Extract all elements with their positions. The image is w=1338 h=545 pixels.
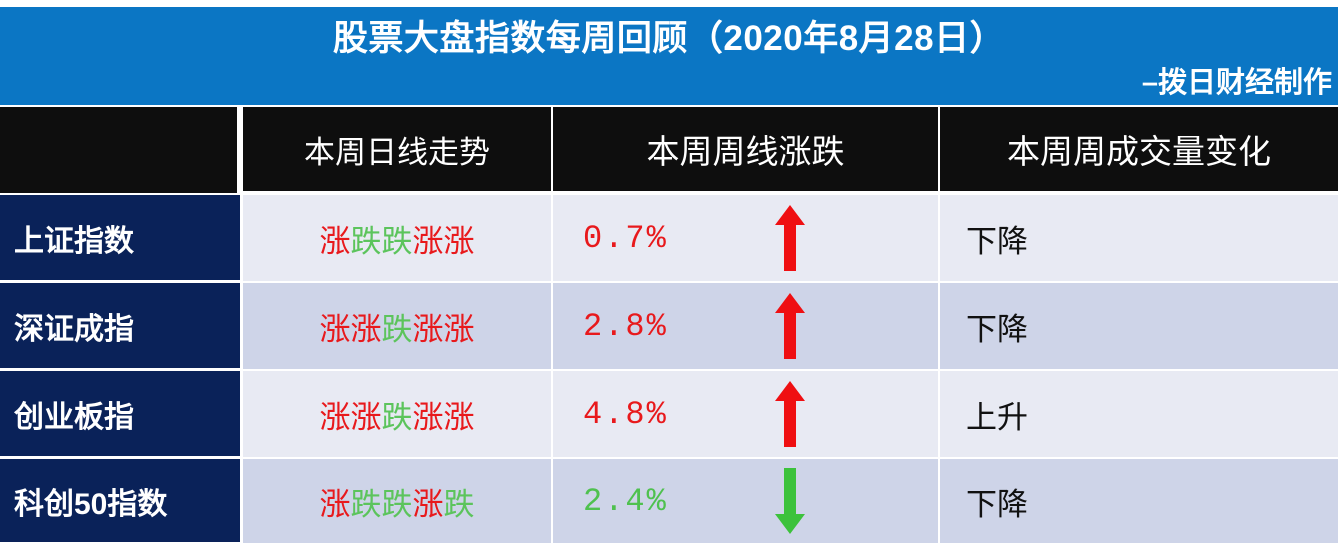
trend-tick: 涨 xyxy=(320,479,351,524)
header-cell-weekly-change: 本周周线涨跌 xyxy=(553,107,940,193)
trend-tick: 涨 xyxy=(351,392,382,437)
trend-tick: 跌 xyxy=(382,304,413,349)
weekly-change-cell: 2.8% xyxy=(553,283,940,371)
daily-trend-cell: 涨涨跌涨涨 xyxy=(243,283,553,371)
weekly-change-cell: 2.4% xyxy=(553,459,940,545)
indices-table: 本周日线走势 本周周线涨跌 本周周成交量变化 上证指数 涨跌跌涨涨 0.7% 下… xyxy=(0,107,1338,545)
header-cell-index xyxy=(0,107,240,193)
trend-tick: 跌 xyxy=(382,479,413,524)
trend-tick: 涨 xyxy=(444,216,475,261)
trend-tick: 涨 xyxy=(413,479,444,524)
table-row: 上证指数 涨跌跌涨涨 0.7% 下降 xyxy=(0,195,1338,283)
weekly-change-value: 4.8% xyxy=(553,396,753,433)
credit-line: –拨日财经制作 xyxy=(1142,65,1332,101)
trend-tick: 涨 xyxy=(351,304,382,349)
trend-tick: 涨 xyxy=(413,216,444,261)
volume-change-value: 上升 xyxy=(940,371,1338,459)
weekly-change-value: 2.8% xyxy=(553,308,753,345)
index-name: 科创50指数 xyxy=(0,459,240,545)
table-row: 深证成指 涨涨跌涨涨 2.8% 下降 xyxy=(0,283,1338,371)
weekly-change-value: 0.7% xyxy=(553,220,753,257)
table-row: 创业板指 涨涨跌涨涨 4.8% 上升 xyxy=(0,371,1338,459)
trend-tick: 跌 xyxy=(351,479,382,524)
daily-trend-cell: 涨涨跌涨涨 xyxy=(243,371,553,459)
table-row: 科创50指数 涨跌跌涨跌 2.4% 下降 xyxy=(0,459,1338,545)
arrow-up-icon xyxy=(753,283,873,369)
trend-tick: 涨 xyxy=(413,304,444,349)
trend-tick: 跌 xyxy=(382,216,413,261)
arrow-up-icon xyxy=(753,371,873,457)
trend-tick: 跌 xyxy=(444,479,475,524)
trend-tick: 涨 xyxy=(444,304,475,349)
top-margin xyxy=(0,0,1338,7)
trend-tick: 涨 xyxy=(413,392,444,437)
weekly-change-cell: 0.7% xyxy=(553,195,940,283)
page-title: 股票大盘指数每周回顾（2020年8月28日） xyxy=(0,17,1338,61)
trend-tick: 跌 xyxy=(351,216,382,261)
arrow-down-icon xyxy=(753,459,873,543)
header-cell-volume-change: 本周周成交量变化 xyxy=(940,107,1338,193)
trend-tick: 涨 xyxy=(444,392,475,437)
header-banner: 股票大盘指数每周回顾（2020年8月28日） –拨日财经制作 xyxy=(0,7,1338,105)
index-name: 上证指数 xyxy=(0,195,240,283)
daily-trend-cell: 涨跌跌涨跌 xyxy=(243,459,553,545)
header-cell-daily-trend: 本周日线走势 xyxy=(243,107,553,193)
trend-tick: 涨 xyxy=(320,392,351,437)
trend-tick: 涨 xyxy=(320,304,351,349)
volume-change-value: 下降 xyxy=(940,459,1338,545)
arrow-up-icon xyxy=(753,195,873,281)
volume-change-value: 下降 xyxy=(940,195,1338,283)
volume-change-value: 下降 xyxy=(940,283,1338,371)
index-name: 深证成指 xyxy=(0,283,240,371)
weekly-change-value: 2.4% xyxy=(553,483,753,520)
table-header-row: 本周日线走势 本周周线涨跌 本周周成交量变化 xyxy=(0,107,1338,193)
daily-trend-cell: 涨跌跌涨涨 xyxy=(243,195,553,283)
trend-tick: 涨 xyxy=(320,216,351,261)
index-name: 创业板指 xyxy=(0,371,240,459)
weekly-change-cell: 4.8% xyxy=(553,371,940,459)
trend-tick: 跌 xyxy=(382,392,413,437)
stock-weekly-review-card: 股票大盘指数每周回顾（2020年8月28日） –拨日财经制作 本周日线走势 本周… xyxy=(0,0,1338,545)
